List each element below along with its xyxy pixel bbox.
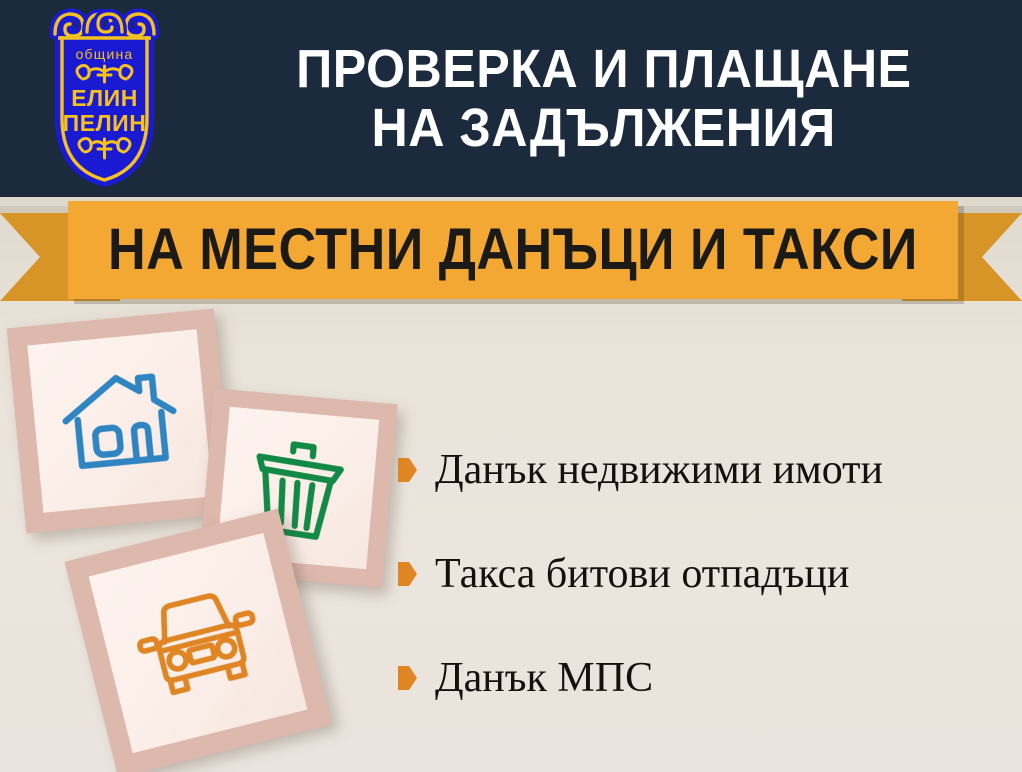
crest-line-bottom: ПЕЛИН — [63, 110, 147, 136]
arrow-bullet-icon — [398, 562, 417, 586]
ribbon-banner: НА МЕСТНИ ДАНЪЦИ И ТАКСИ — [68, 201, 958, 299]
list-item-label: Данък МПС — [435, 657, 653, 699]
page-title: ПРОВЕРКА И ПЛАЩАНЕ НА ЗАДЪЛЖЕНИЯ — [186, 0, 1022, 197]
poster-canvas: община ЕЛИН ПЕЛИН ПРОВЕРКА И ПЛАЩАНЕ НА … — [0, 0, 1022, 772]
arrow-bullet-icon — [398, 666, 417, 690]
subtitle-ribbon: НА МЕСТНИ ДАНЪЦИ И ТАКСИ — [0, 196, 1022, 306]
title-line-2: НА ЗАДЪЛЖЕНИЯ — [372, 100, 836, 156]
list-item-label: Данък недвижими имоти — [435, 449, 883, 491]
list-item-label: Такса битови отпадъци — [435, 553, 849, 595]
list-item[interactable]: Данък МПС — [398, 626, 1018, 730]
arrow-bullet-icon — [398, 458, 417, 482]
crest-line-top: община — [76, 46, 134, 62]
house-icon — [56, 364, 183, 479]
ribbon-label: НА МЕСТНИ ДАНЪЦИ И ТАКСИ — [108, 221, 918, 279]
crest-line-mid: ЕЛИН — [71, 85, 138, 111]
header-bar: община ЕЛИН ПЕЛИН ПРОВЕРКА И ПЛАЩАНЕ НА … — [0, 0, 1022, 197]
coat-of-arms: община ЕЛИН ПЕЛИН — [31, 6, 178, 191]
stamp-paper-house — [27, 329, 212, 513]
list-item[interactable]: Такса битови отпадъци — [398, 522, 1018, 626]
car-icon — [125, 579, 271, 707]
stamp-card-house — [7, 309, 234, 534]
tax-type-list: Данък недвижими имоти Такса битови отпад… — [398, 418, 1018, 730]
title-line-1: ПРОВЕРКА И ПЛАЩАНЕ — [296, 41, 911, 97]
list-item[interactable]: Данък недвижими имоти — [398, 418, 1018, 522]
